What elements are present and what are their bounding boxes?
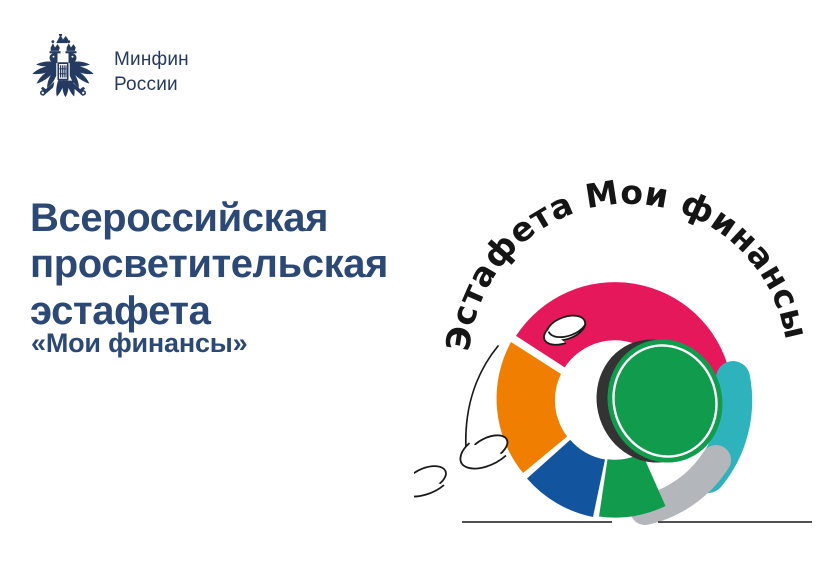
flourish-line-icon: [466, 346, 498, 450]
ministry-name-label: Минфин России: [114, 47, 189, 97]
page-subtitle: «Мои финансы»: [31, 328, 247, 359]
russian-double-headed-eagle-icon: [26, 34, 100, 110]
page-title: Всероссийская просветительская эстафета: [30, 195, 460, 334]
falling-coin-icon: [414, 461, 450, 497]
poster-canvas: Минфин России Всероссийская просветитель…: [0, 0, 816, 583]
green-segment: [599, 453, 666, 518]
estafeta-emblem-artwork: Эстафета Мои финансы: [414, 168, 816, 568]
ministry-brand-lockup: Минфин России: [26, 34, 189, 110]
